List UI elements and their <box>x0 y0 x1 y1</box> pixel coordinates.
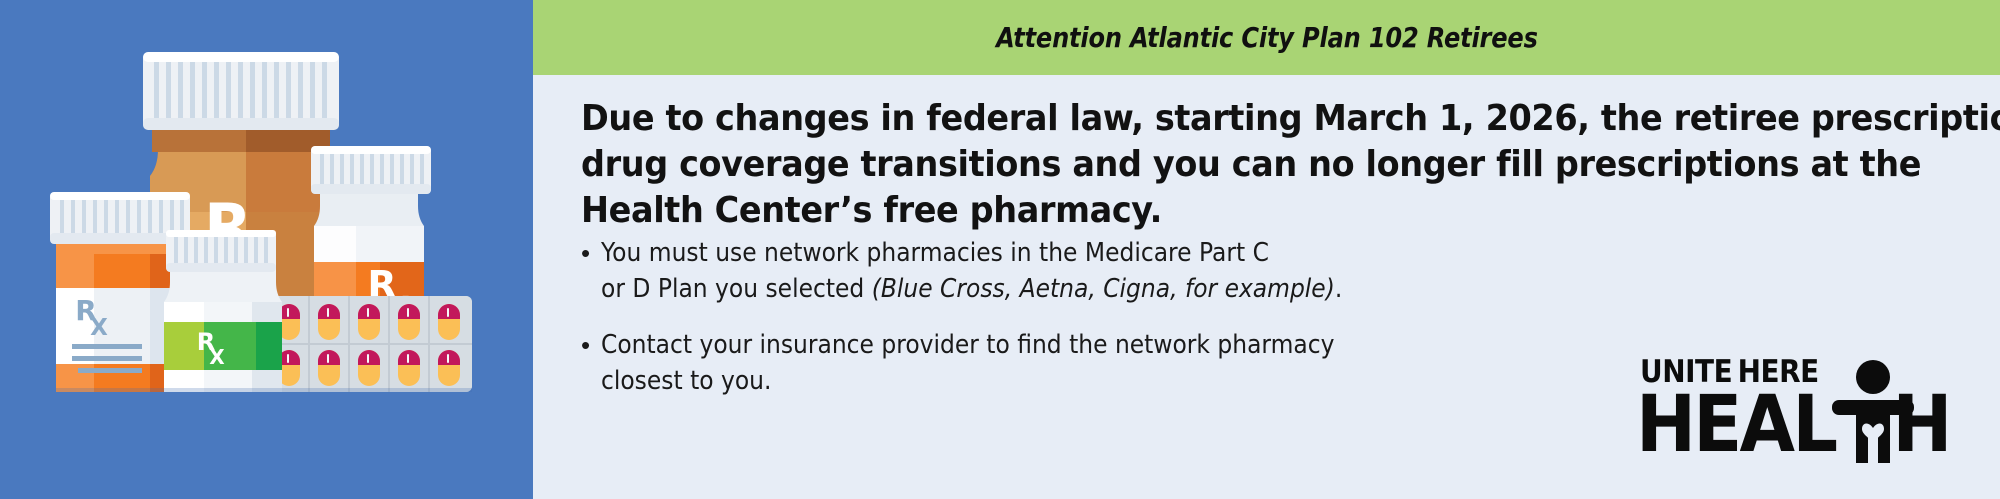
bullet-line-1: You must use network pharmacies in the M… <box>601 235 1342 271</box>
bullet-marker: • <box>581 327 601 363</box>
bullet-line-1: Contact your insurance provider to find … <box>601 327 1335 363</box>
bullet-line-2-italic: (Blue Cross, Aetna, Cigna, for example) <box>872 274 1335 304</box>
bullet-line-2-plain: closest to you. <box>601 366 771 396</box>
bullet-line-2: closest to you. <box>601 363 1335 399</box>
prescription-medicine-illustration: R X <box>0 0 533 499</box>
list-item: • You must use network pharmacies in the… <box>581 235 1701 307</box>
bottle-cap <box>311 146 431 194</box>
logo-wordmark-bottom: HEALH <box>1634 389 1964 461</box>
label-lines <box>72 344 142 373</box>
bottle-cap <box>166 230 276 272</box>
bullet-list: • You must use network pharmacies in the… <box>581 235 1701 419</box>
headline-line-2: drug coverage transitions and you can no… <box>581 142 1864 188</box>
unite-here-health-logo: UNITEHERE HEALH <box>1634 357 1964 461</box>
person-with-heart-icon <box>1830 359 1916 463</box>
rx-symbol: X <box>209 345 225 369</box>
bullet-line-2-plain: or D Plan you selected <box>601 274 872 304</box>
headline-line-3: Health Center’s free pharmacy. <box>581 188 1864 234</box>
headline-line-1: Due to changes in federal law, starting … <box>581 96 1864 142</box>
list-item: • Contact your insurance provider to fin… <box>581 327 1701 399</box>
bottle-cap <box>143 52 339 130</box>
promotional-banner: R X <box>0 0 2000 499</box>
white-green-label-bottle: R X <box>164 230 282 392</box>
bullet-text: You must use network pharmacies in the M… <box>601 235 1342 307</box>
headline: Due to changes in federal law, starting … <box>581 96 1864 234</box>
bullet-line-2-tail: . <box>1335 274 1342 304</box>
illustration-panel: R X <box>0 0 533 499</box>
attention-banner: Attention Atlantic City Plan 102 Retiree… <box>533 0 2000 75</box>
bullet-marker: • <box>581 235 601 271</box>
bullet-text: Contact your insurance provider to find … <box>601 327 1335 399</box>
bullet-line-2: or D Plan you selected (Blue Cross, Aetn… <box>601 271 1342 307</box>
pill-blister-pack <box>268 296 472 392</box>
announcement-content: Due to changes in federal law, starting … <box>533 75 2000 499</box>
logo-health-lead: HEAL <box>1636 380 1835 470</box>
attention-banner-title: Attention Atlantic City Plan 102 Retiree… <box>996 21 1538 54</box>
rx-symbol: X <box>90 315 108 341</box>
